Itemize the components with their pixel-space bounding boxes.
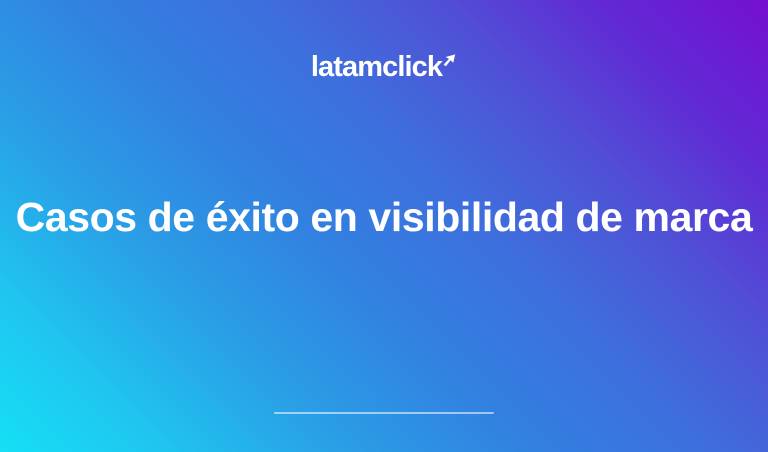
page-title: Casos de éxito en visibilidad de marca — [0, 193, 768, 241]
divider-container — [0, 412, 768, 414]
logo-wordmark: latamclick — [311, 52, 442, 82]
divider-line — [274, 412, 494, 414]
logo-lockup: latamclick — [311, 52, 457, 82]
title-slide: latamclick Casos de éxito en visibilidad… — [0, 0, 768, 452]
brand-logo: latamclick — [0, 52, 768, 82]
arrow-up-right-icon — [441, 53, 457, 69]
